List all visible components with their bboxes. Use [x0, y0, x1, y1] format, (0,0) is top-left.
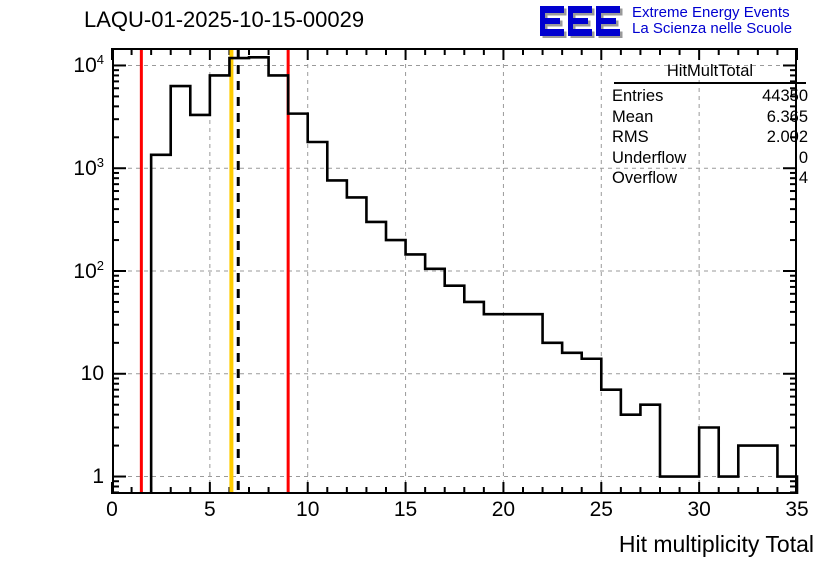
eee-logo-line2: La Scienza nelle Scuole — [632, 21, 792, 37]
y-axis-tick-label: 104 — [4, 52, 104, 78]
x-axis-tick-label: 10 — [296, 498, 319, 522]
eee-logo: Extreme Energy Events La Scienza nelle S… — [540, 2, 830, 42]
x-axis-tick-label: 30 — [687, 498, 710, 522]
stats-row-label: Mean — [612, 107, 653, 128]
eee-logo-text: Extreme Energy Events La Scienza nelle S… — [632, 5, 792, 37]
eee-logo-mark — [540, 4, 624, 38]
y-axis-tick-label: 102 — [4, 258, 104, 284]
stats-row: Overflow4 — [612, 168, 808, 189]
stats-row-label: Entries — [612, 86, 663, 107]
stats-row-value: 2.002 — [767, 127, 808, 148]
stats-row: RMS2.002 — [612, 127, 808, 148]
stats-box: HitMultTotal Entries44350Mean6.365RMS2.0… — [612, 62, 808, 189]
stats-title: HitMultTotal — [612, 62, 808, 82]
x-axis-tick-label: 5 — [204, 498, 216, 522]
x-axis-tick-label: 20 — [492, 498, 515, 522]
stats-row-value: 4 — [799, 168, 808, 189]
stats-divider — [614, 82, 806, 84]
y-axis-tick-label: 1 — [4, 465, 104, 489]
page-title: LAQU-01-2025-10-15-00029 — [84, 7, 364, 33]
stats-row: Entries44350 — [612, 86, 808, 107]
stats-row: Underflow0 — [612, 148, 808, 169]
stats-row-value: 6.365 — [767, 107, 808, 128]
stats-row-label: RMS — [612, 127, 649, 148]
eee-logo-line1: Extreme Energy Events — [632, 5, 792, 21]
x-axis-title: Hit multiplicity Total — [619, 531, 814, 558]
stats-row-label: Overflow — [612, 168, 677, 189]
stats-row: Mean6.365 — [612, 107, 808, 128]
stats-row-label: Underflow — [612, 148, 686, 169]
x-axis-tick-label: 15 — [394, 498, 417, 522]
stats-row-value: 44350 — [762, 86, 808, 107]
x-axis-tick-label: 25 — [590, 498, 613, 522]
y-axis-tick-label: 10 — [4, 362, 104, 386]
x-axis-tick-label: 35 — [785, 498, 808, 522]
stats-row-value: 0 — [799, 148, 808, 169]
x-axis-tick-label: 0 — [106, 498, 118, 522]
y-axis-tick-label: 103 — [4, 155, 104, 181]
